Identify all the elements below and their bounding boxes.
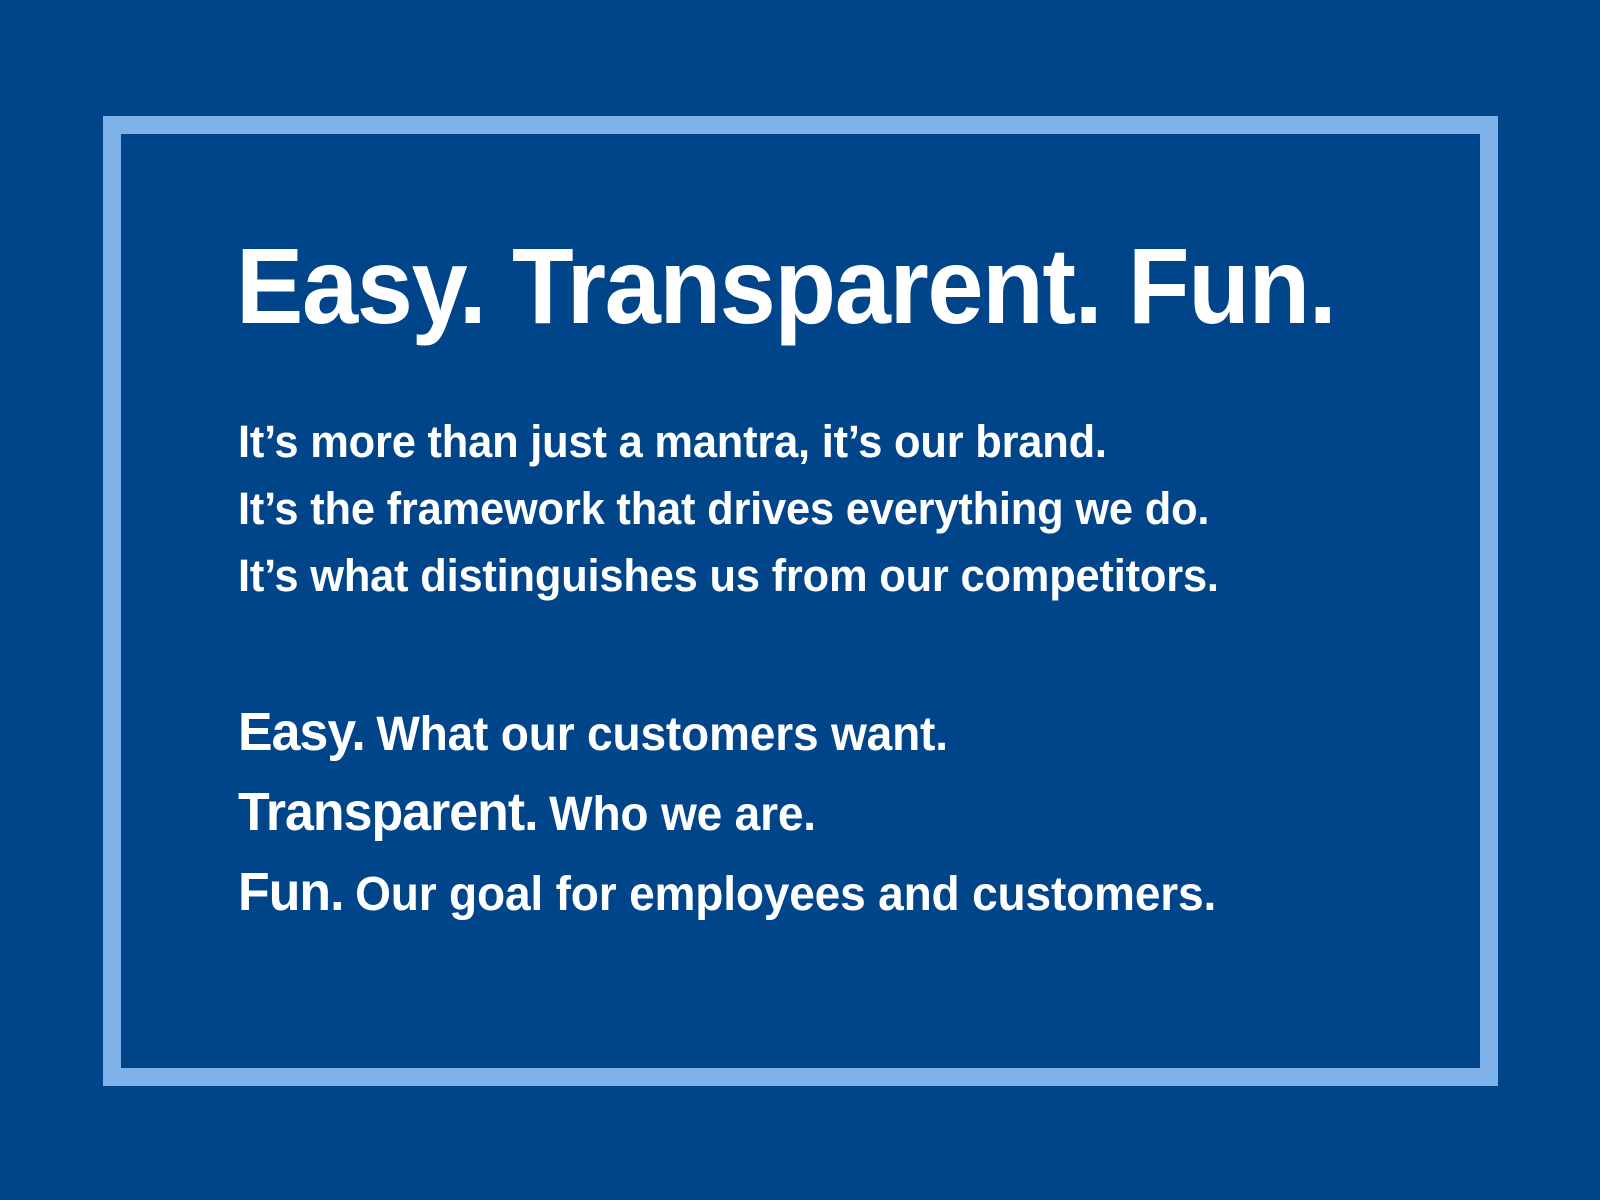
intro-paragraph: It’s more than just a mantra, it’s our b… xyxy=(238,408,1219,609)
intro-line-2: It’s the framework that drives everythin… xyxy=(238,475,1219,542)
value-item-transparent: Transparent.Who we are. xyxy=(238,772,1216,852)
value-term-fun: Fun. xyxy=(238,862,344,922)
value-description-fun: Our goal for employees and customers. xyxy=(355,868,1216,921)
brand-mantra-slide: Easy. Transparent. Fun. It’s more than j… xyxy=(0,0,1600,1200)
intro-line-1: It’s more than just a mantra, it’s our b… xyxy=(238,408,1219,475)
value-term-easy: Easy. xyxy=(238,702,365,762)
slide-content: Easy. Transparent. Fun. It’s more than j… xyxy=(236,0,1436,1200)
intro-line-3: It’s what distinguishes us from our comp… xyxy=(238,542,1219,609)
value-statement-list: Easy.What our customers want. Transparen… xyxy=(238,692,1216,932)
value-description-transparent: Who we are. xyxy=(549,788,816,841)
page-title: Easy. Transparent. Fun. xyxy=(236,232,1335,340)
value-item-fun: Fun.Our goal for employees and customers… xyxy=(238,852,1216,932)
value-term-transparent: Transparent. xyxy=(238,782,538,842)
value-item-easy: Easy.What our customers want. xyxy=(238,692,1216,772)
value-description-easy: What our customers want. xyxy=(376,708,947,761)
